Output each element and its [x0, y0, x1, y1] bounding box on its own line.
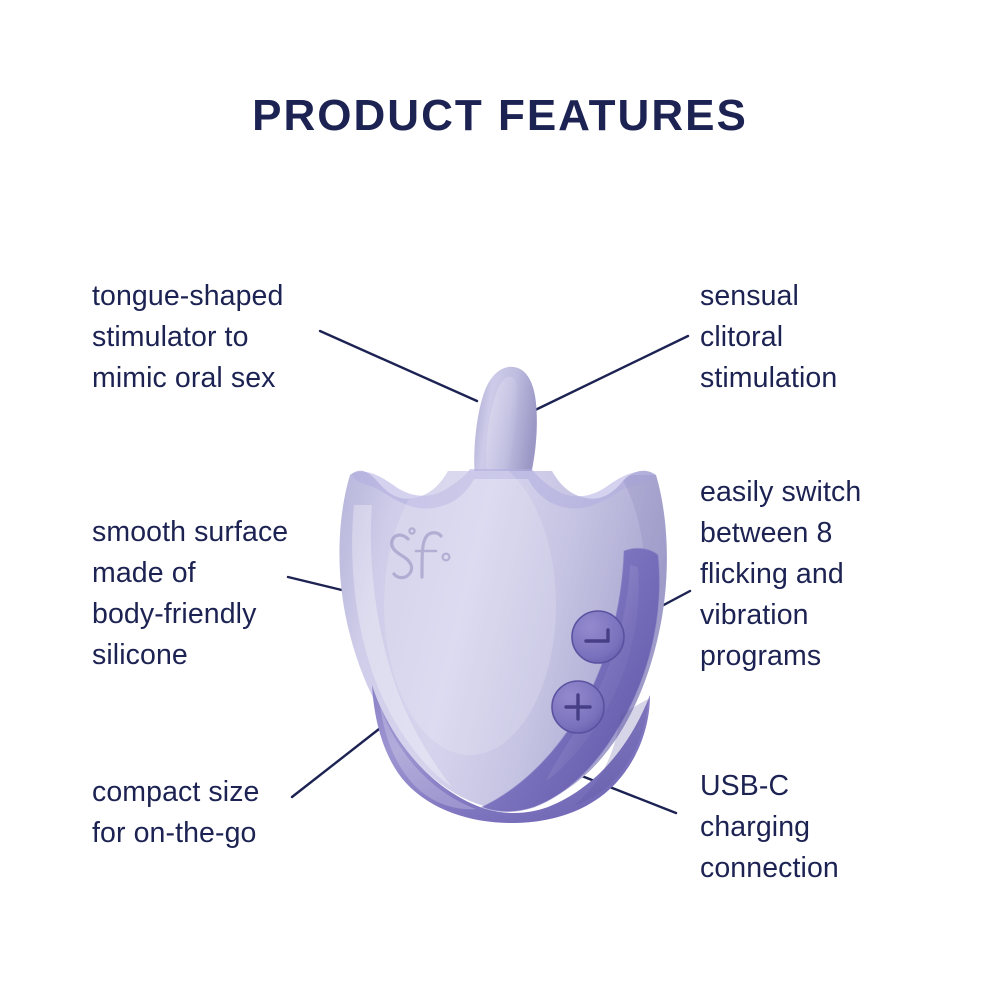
callout-usb-c-charging: USB-C charging connection — [700, 766, 950, 889]
intensity-up-button[interactable] — [552, 681, 604, 733]
intensity-down-button[interactable] — [572, 611, 624, 663]
page-title: PRODUCT FEATURES — [0, 94, 1000, 138]
feature-diagram: PRODUCT FEATURES tongue-shaped stimulato… — [0, 0, 1000, 1000]
callout-eight-programs: easily switch between 8 flicking and vib… — [700, 472, 950, 677]
callout-sensual-clitoral-stimulation: sensual clitoral stimulation — [700, 276, 950, 399]
product-image — [320, 355, 680, 825]
